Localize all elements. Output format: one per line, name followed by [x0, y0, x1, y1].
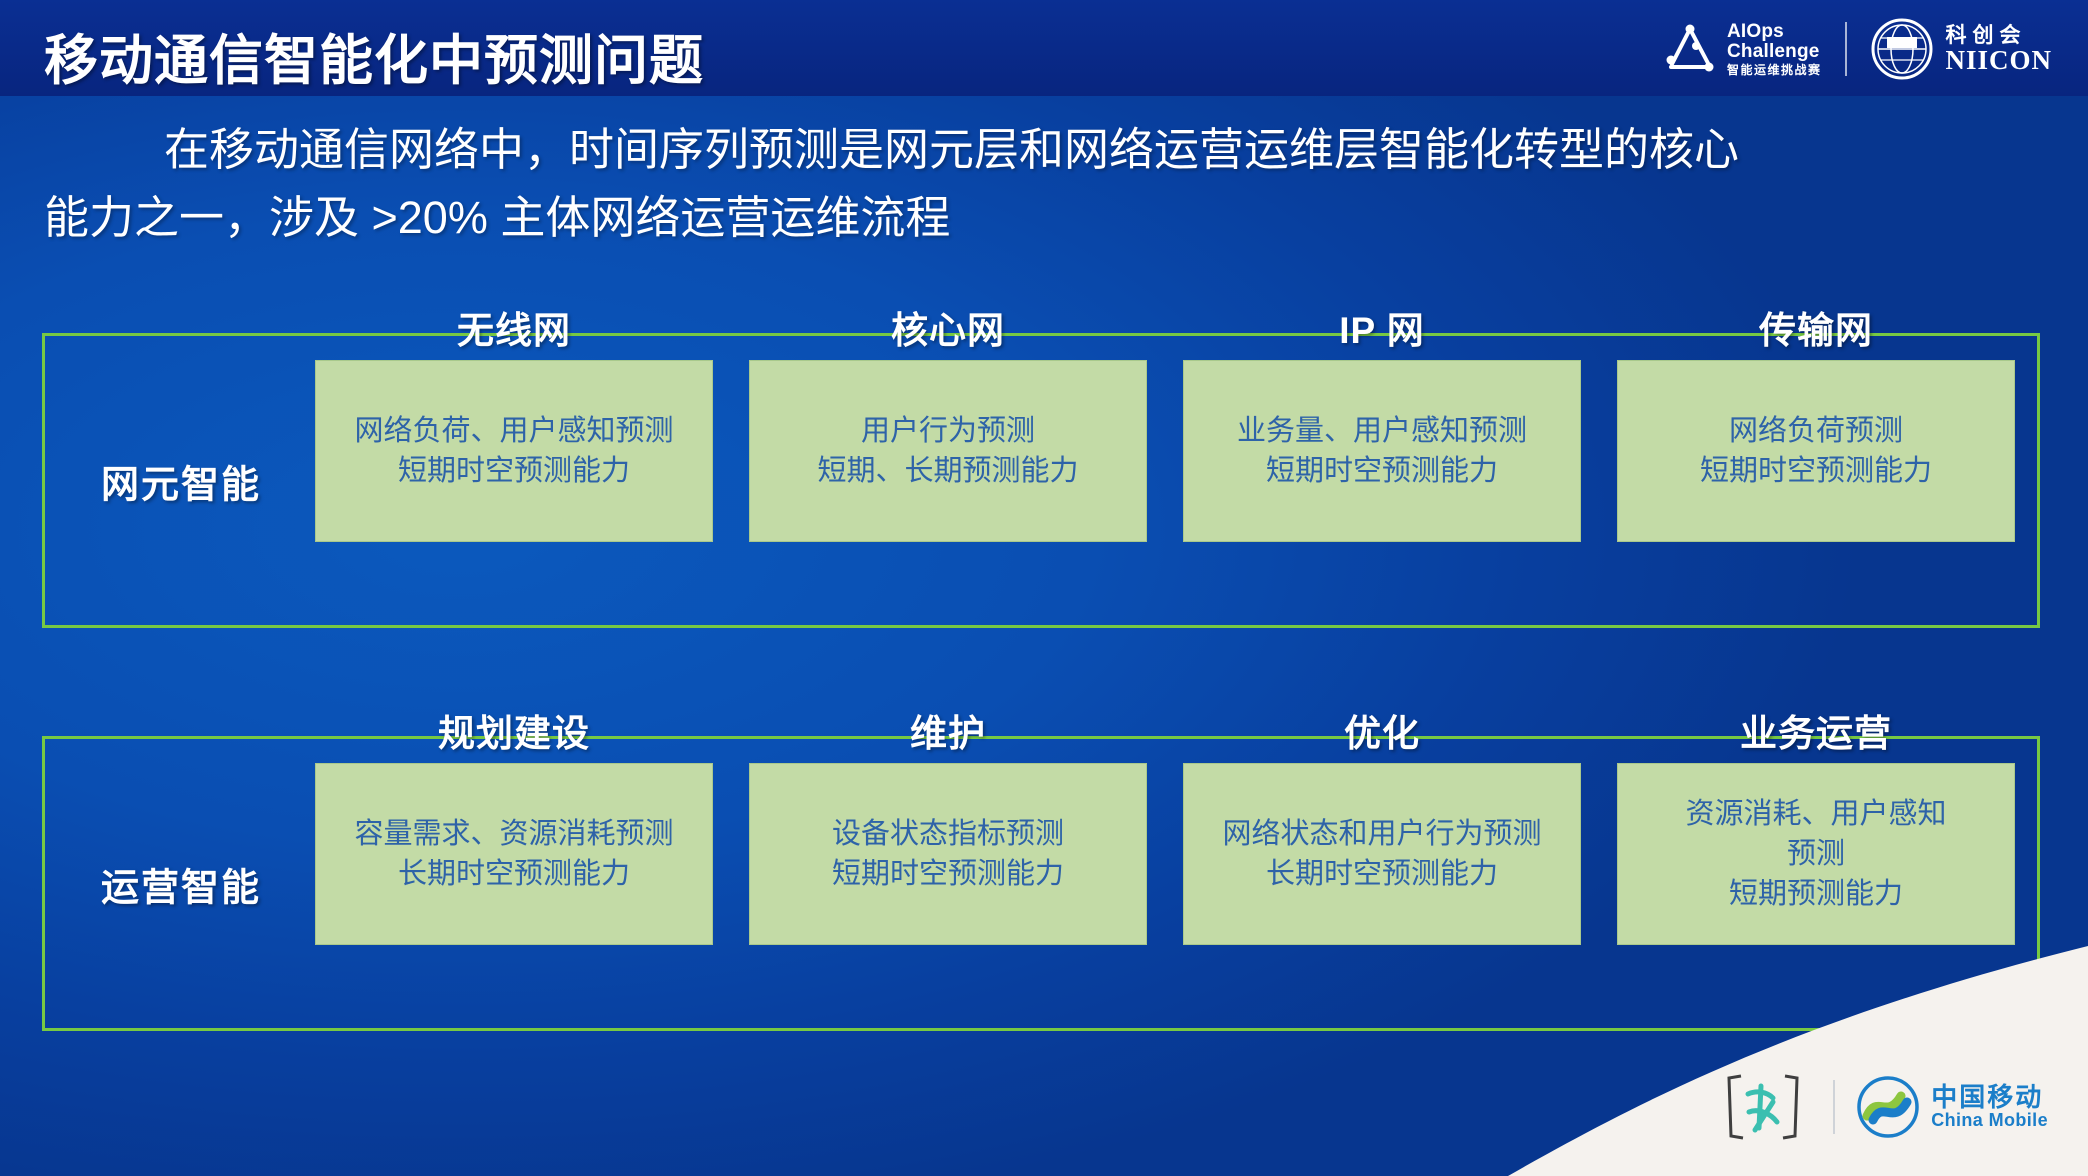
card-head-0-3: 传输网 [1759, 300, 1873, 354]
aiops-triangle-icon [1663, 24, 1717, 74]
card-head-1-2: 优化 [1344, 703, 1420, 757]
niicon-globe-icon [1871, 18, 1933, 80]
card-body-0-2: 业务量、用户感知预测 短期时空预测能力 [1183, 360, 1581, 542]
row-label-1: 运营智能 [101, 856, 261, 911]
card-line-1-2-0: 网络状态和用户行为预测 [1222, 814, 1541, 854]
panel-network-element-intelligence: 网元智能 无线网 网络负荷、用户感知预测 短期时空预测能力 核心网 [42, 333, 2040, 628]
card-line-0-2-1: 短期时空预测能力 [1237, 451, 1527, 491]
lead-paragraph: 在移动通信网络中，时间序列预测是网元层和网络运营运维层智能化转型的核心 能力之一… [44, 116, 2044, 253]
card-business-operations[interactable]: 业务运营 资源消耗、用户感知 预测 短期预测能力 [1617, 739, 2015, 945]
slide-root: 移动通信智能化中预测问题 AIOps Challenge 智能运维挑战赛 [0, 0, 2088, 1176]
card-head-1-0: 规划建设 [438, 703, 590, 757]
card-line-0-2-0: 业务量、用户感知预测 [1237, 411, 1527, 451]
card-row-1: 规划建设 容量需求、资源消耗预测 长期时空预测能力 维护 设备状态指标预测 短期… [315, 739, 2015, 1028]
card-body-0-3: 网络负荷预测 短期时空预测能力 [1617, 360, 2015, 542]
jiutian-bracket-icon [1715, 1068, 1811, 1146]
card-body-0-1: 用户行为预测 短期、长期预测能力 [749, 360, 1147, 542]
card-core-network[interactable]: 核心网 用户行为预测 短期、长期预测能力 [749, 336, 1147, 542]
card-transport-network[interactable]: 传输网 网络负荷预测 短期时空预测能力 [1617, 336, 2015, 542]
page-title: 移动通信智能化中预测问题 [44, 16, 704, 95]
china-mobile-en: China Mobile [1931, 1111, 2048, 1131]
logo-divider [1845, 22, 1847, 76]
card-optimization[interactable]: 优化 网络状态和用户行为预测 长期时空预测能力 [1183, 739, 1581, 945]
card-line-0-1-0: 用户行为预测 [817, 411, 1078, 451]
aiops-line3: 智能运维挑战赛 [1727, 64, 1822, 76]
card-line-1-0-1: 长期时空预测能力 [354, 854, 673, 894]
aiops-line2: Challenge [1727, 42, 1822, 62]
card-line-0-3-0: 网络负荷预测 [1700, 411, 1932, 451]
card-body-1-1: 设备状态指标预测 短期时空预测能力 [749, 763, 1147, 945]
card-line-1-1-1: 短期时空预测能力 [832, 854, 1064, 894]
china-mobile-text: 中国移动 China Mobile [1931, 1083, 2048, 1131]
lead-line-1: 在移动通信网络中，时间序列预测是网元层和网络运营运维层智能化转型的核心 [44, 116, 2044, 184]
card-head-1-3: 业务运营 [1740, 703, 1892, 757]
header-logo-group: AIOps Challenge 智能运维挑战赛 科创会 [1663, 14, 2052, 84]
niicon-english: NIICON [1945, 46, 2052, 74]
card-line-1-3-0: 资源消耗、用户感知 [1685, 794, 1946, 834]
card-body-1-2: 网络状态和用户行为预测 长期时空预测能力 [1183, 763, 1581, 945]
china-mobile-swoosh-icon [1857, 1076, 1919, 1138]
card-line-0-0-1: 短期时空预测能力 [354, 451, 673, 491]
card-line-1-3-1: 预测 [1685, 834, 1946, 874]
niicon-logo-text: 科创会 NIICON [1945, 24, 2052, 74]
card-planning-construction[interactable]: 规划建设 容量需求、资源消耗预测 长期时空预测能力 [315, 739, 713, 945]
card-line-0-3-1: 短期时空预测能力 [1700, 451, 1932, 491]
card-body-1-0: 容量需求、资源消耗预测 长期时空预测能力 [315, 763, 713, 945]
lead-line-2: 能力之一，涉及 >20% 主体网络运营运维流程 [44, 184, 2044, 252]
card-line-0-1-1: 短期、长期预测能力 [817, 451, 1078, 491]
aiops-logo-text: AIOps Challenge 智能运维挑战赛 [1727, 22, 1822, 76]
card-maintenance[interactable]: 维护 设备状态指标预测 短期时空预测能力 [749, 739, 1147, 945]
card-ip-network[interactable]: IP 网 业务量、用户感知预测 短期时空预测能力 [1183, 336, 1581, 542]
card-body-0-0: 网络负荷、用户感知预测 短期时空预测能力 [315, 360, 713, 542]
card-head-1-1: 维护 [910, 703, 986, 757]
card-body-1-3: 资源消耗、用户感知 预测 短期预测能力 [1617, 763, 2015, 945]
china-mobile-logo: 中国移动 China Mobile [1857, 1076, 2048, 1138]
footer-logo-group: 中国移动 China Mobile [1715, 1068, 2048, 1146]
aiops-challenge-logo: AIOps Challenge 智能运维挑战赛 [1663, 22, 1822, 76]
jiutian-logo [1715, 1068, 1811, 1146]
card-line-1-3-2: 短期预测能力 [1685, 874, 1946, 914]
card-head-0-1: 核心网 [891, 300, 1005, 354]
niicon-chinese: 科创会 [1945, 24, 2052, 46]
aiops-line1: AIOps [1727, 22, 1822, 42]
china-mobile-cn: 中国移动 [1931, 1083, 2048, 1112]
row-label-0: 网元智能 [101, 453, 261, 508]
card-line-1-2-1: 长期时空预测能力 [1222, 854, 1541, 894]
panel-operations-intelligence: 运营智能 规划建设 容量需求、资源消耗预测 长期时空预测能力 维护 [42, 736, 2040, 1031]
footer-logo-divider [1833, 1080, 1835, 1134]
card-head-0-2: IP 网 [1339, 300, 1425, 354]
card-wireless-network[interactable]: 无线网 网络负荷、用户感知预测 短期时空预测能力 [315, 336, 713, 542]
card-line-0-0-0: 网络负荷、用户感知预测 [354, 411, 673, 451]
card-row-0: 无线网 网络负荷、用户感知预测 短期时空预测能力 核心网 用户行为预测 短期、长… [315, 336, 2015, 625]
niicon-logo: 科创会 NIICON [1871, 18, 2052, 80]
card-line-1-0-0: 容量需求、资源消耗预测 [354, 814, 673, 854]
card-head-0-0: 无线网 [457, 300, 571, 354]
card-line-1-1-0: 设备状态指标预测 [832, 814, 1064, 854]
